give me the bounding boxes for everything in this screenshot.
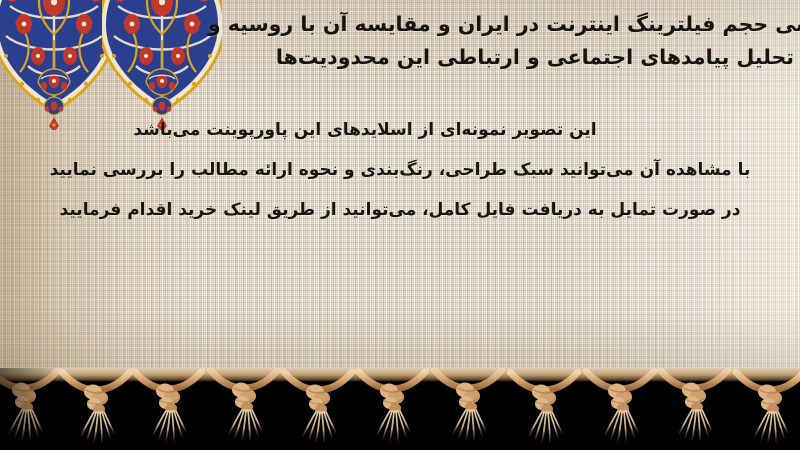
title-line-2: تحلیل پیامدهای اجتماعی و ارتباطی این محد… — [190, 41, 794, 74]
slide-body-text: این تصویر نمونه‌ای از اسلایدهای این پاور… — [12, 110, 788, 230]
title-line-1: رسی حجم فیلترینگ اینترنت در ایران و مقای… — [190, 8, 800, 41]
carpet-fringe-band — [0, 368, 800, 450]
carpet-knotted-fringe-icon — [0, 368, 800, 450]
slide-title: رسی حجم فیلترینگ اینترنت در ایران و مقای… — [190, 8, 794, 74]
body-line-3: در صورت تمایل به دریافت فایل کامل، می‌تو… — [12, 190, 788, 230]
body-line-1: این تصویر نمونه‌ای از اسلایدهای این پاور… — [12, 110, 718, 150]
slide-canvas: رسی حجم فیلترینگ اینترنت در ایران و مقای… — [0, 0, 800, 450]
body-line-2: با مشاهده آن می‌توانید سبک طراحی، رنگ‌بن… — [12, 150, 788, 190]
